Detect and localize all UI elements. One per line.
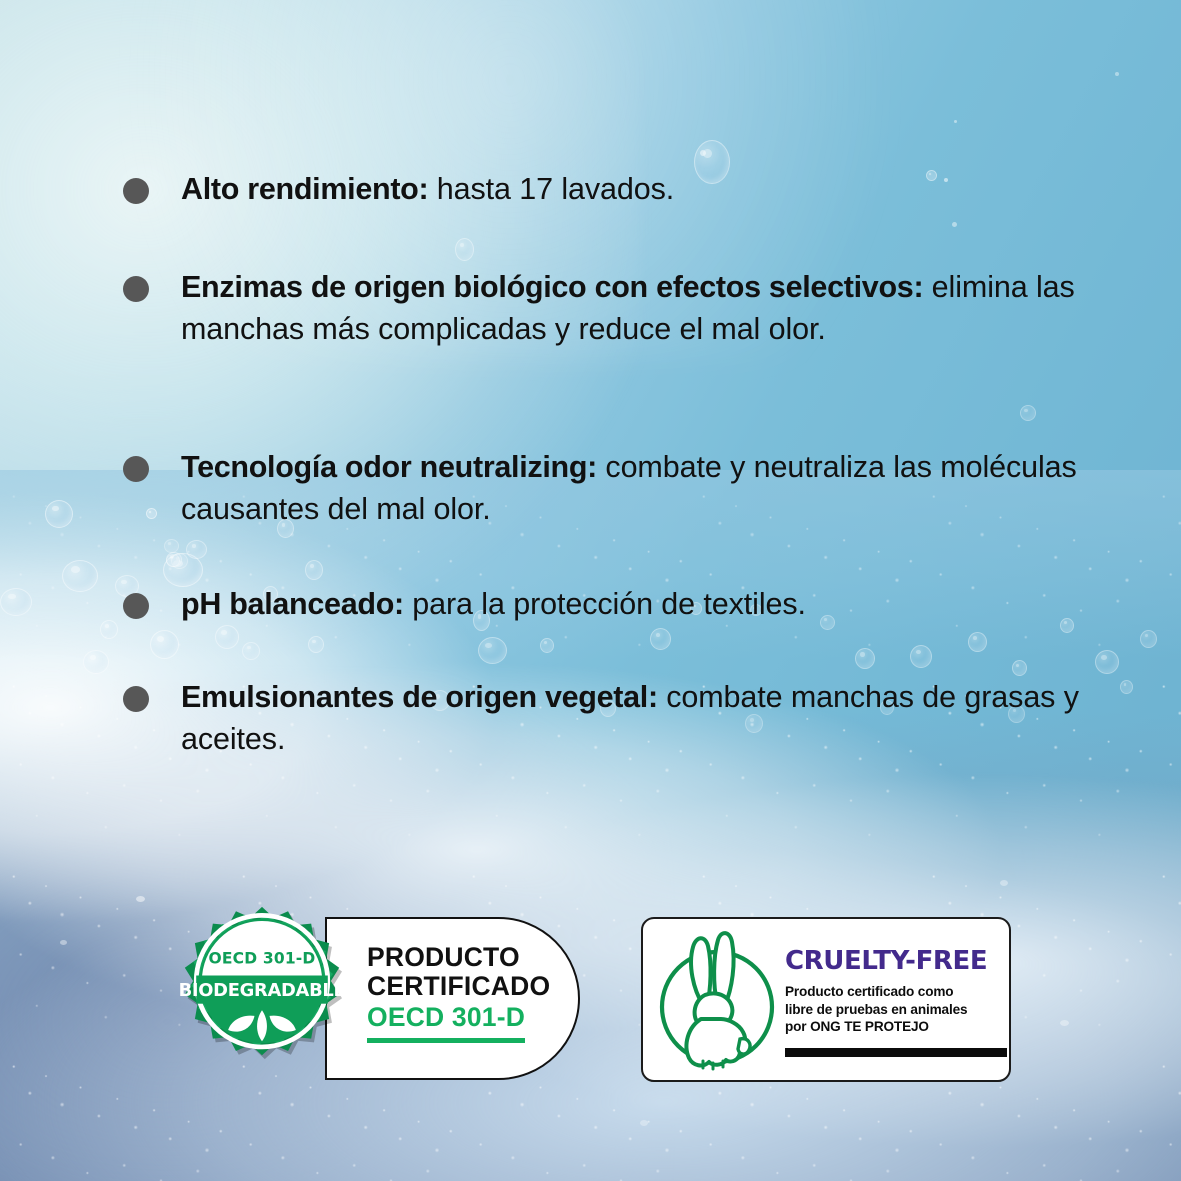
bullet-dot-icon xyxy=(123,686,149,712)
rabbit-in-circle-icon xyxy=(655,927,779,1073)
cf-sub-line2: libre de pruebas en animales xyxy=(785,1001,1007,1019)
benefit-item-odor-neutralizing: Tecnología odor neutralizing: combate y … xyxy=(123,446,1123,530)
benefit-text: Tecnología odor neutralizing: combate y … xyxy=(181,446,1123,530)
benefit-label: pH balanceado: xyxy=(181,587,404,621)
badge-biodegradable: PRODUCTO CERTIFICADO OECD 301-D xyxy=(168,905,588,1090)
benefit-description: para la protección de textiles. xyxy=(404,587,806,621)
panel-underline xyxy=(367,1038,525,1043)
benefit-item-enzimas-biologicas: Enzimas de origen biológico con efectos … xyxy=(123,266,1123,350)
benefit-label: Tecnología odor neutralizing: xyxy=(181,450,597,484)
bullet-dot-icon xyxy=(123,593,149,619)
seal-oecd-text: OECD 301-D xyxy=(209,949,316,967)
biodegradable-panel-text: PRODUCTO CERTIFICADO OECD 301-D xyxy=(367,943,550,1043)
benefit-text: Enzimas de origen biológico con efectos … xyxy=(181,266,1123,350)
panel-line-producto: PRODUCTO xyxy=(367,943,550,972)
benefit-description: hasta 17 lavados. xyxy=(428,172,674,206)
bullet-dot-icon xyxy=(123,276,149,302)
cf-sub-line1: Producto certificado como xyxy=(785,983,1007,1001)
cruelty-free-subtext: Producto certificado como libre de prueb… xyxy=(785,983,1007,1036)
cruelty-free-title: CRUELTY-FREE xyxy=(785,946,1007,976)
cf-sub-line3-org: ONG TE PROTEJO xyxy=(810,1019,929,1034)
benefit-item-alto-rendimiento: Alto rendimiento: hasta 17 lavados. xyxy=(123,168,1103,210)
cf-sub-line3: por ONG TE PROTEJO xyxy=(785,1018,1007,1036)
benefit-label: Emulsionantes de origen vegetal: xyxy=(181,680,658,714)
bullet-dot-icon xyxy=(123,456,149,482)
benefit-item-ph-balanceado: pH balanceado: para la protección de tex… xyxy=(123,583,1123,625)
cruelty-free-text-block: CRUELTY-FREE Producto certificado como l… xyxy=(785,942,1007,1057)
seal-biodegradable-text: BIODEGRADABLE xyxy=(179,980,346,1001)
benefit-label: Enzimas de origen biológico con efectos … xyxy=(181,270,923,304)
benefit-text: Emulsionantes de origen vegetal: combate… xyxy=(181,676,1133,760)
benefit-text: pH balanceado: para la protección de tex… xyxy=(181,583,806,625)
promo-image-canvas: Alto rendimiento: hasta 17 lavados. Enzi… xyxy=(0,0,1181,1181)
cf-sub-line3-prefix: por xyxy=(785,1019,810,1034)
panel-line-certificado: CERTIFICADO xyxy=(367,972,550,1001)
biodegradable-seal-icon: OECD 301-D BIODEGRADABLE xyxy=(168,905,356,1093)
biodegradable-certificate-panel: PRODUCTO CERTIFICADO OECD 301-D xyxy=(325,917,580,1080)
cruelty-free-bar xyxy=(785,1048,1007,1057)
benefit-text: Alto rendimiento: hasta 17 lavados. xyxy=(181,168,674,210)
badge-cruelty-free: CRUELTY-FREE Producto certificado como l… xyxy=(641,917,1011,1082)
benefit-label: Alto rendimiento: xyxy=(181,172,428,206)
panel-line-oecd: OECD 301-D xyxy=(367,1002,550,1033)
benefit-item-emulsionantes-vegetales: Emulsionantes de origen vegetal: combate… xyxy=(123,676,1133,760)
bullet-dot-icon xyxy=(123,178,149,204)
